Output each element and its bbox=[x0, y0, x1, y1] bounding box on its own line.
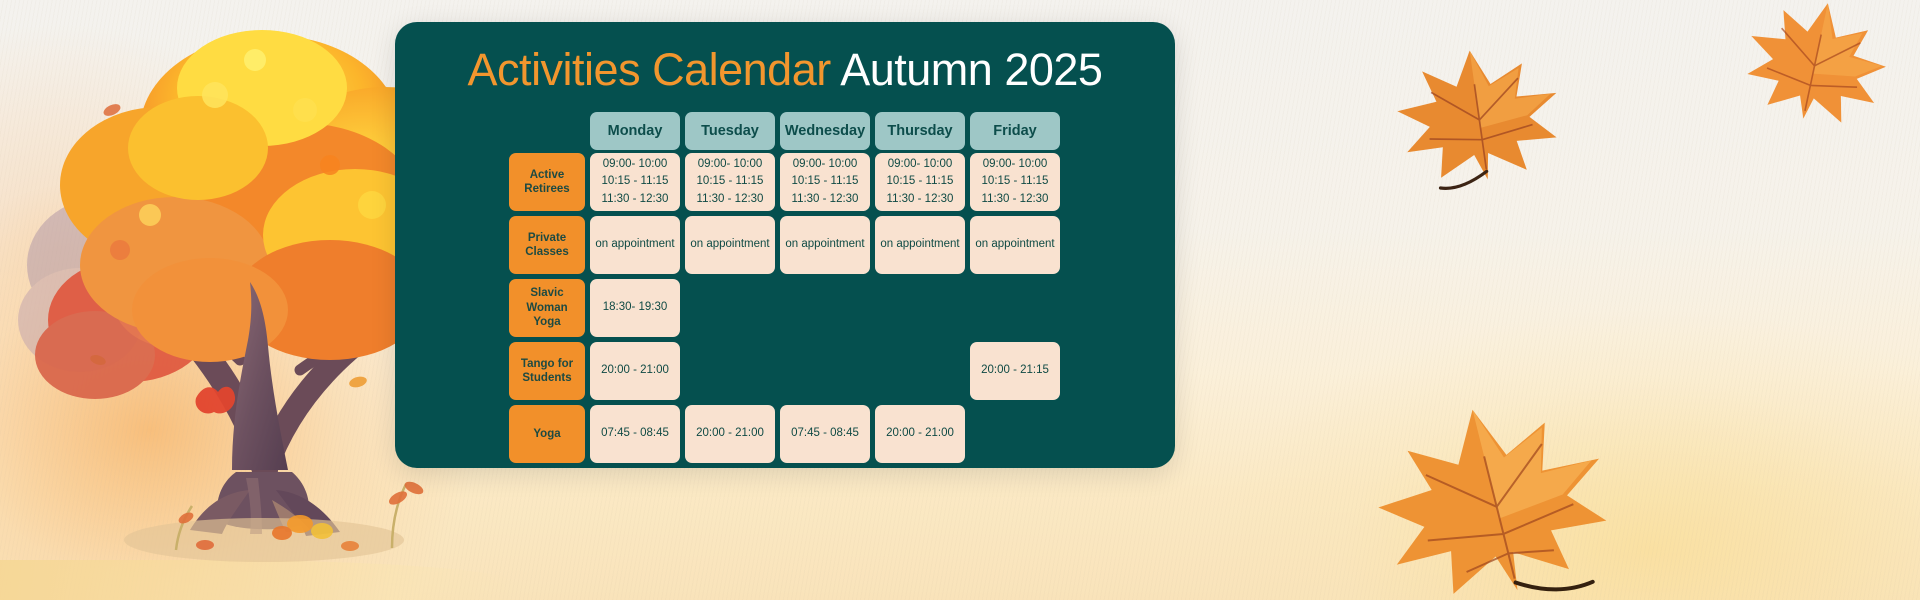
slot-tango-for-students-tuesday bbox=[685, 342, 775, 400]
slot-private-classes-monday[interactable]: on appointment bbox=[590, 216, 680, 274]
slot-slavic-woman-yoga-thursday bbox=[875, 279, 965, 337]
slot-tango-for-students-monday[interactable]: 20:00 - 21:00 bbox=[590, 342, 680, 400]
slot-active-retirees-tuesday[interactable]: 09:00- 10:00 10:15 - 11:15 11:30 - 12:30 bbox=[685, 153, 775, 211]
slot-active-retirees-wednesday[interactable]: 09:00- 10:00 10:15 - 11:15 11:30 - 12:30 bbox=[780, 153, 870, 211]
slot-tango-for-students-thursday bbox=[875, 342, 965, 400]
slot-yoga-monday[interactable]: 07:45 - 08:45 bbox=[590, 405, 680, 463]
day-header-monday[interactable]: Monday bbox=[590, 112, 680, 150]
maple-leaf-large-lower-icon bbox=[1370, 395, 1620, 600]
slot-slavic-woman-yoga-friday bbox=[970, 279, 1060, 337]
slot-private-classes-tuesday[interactable]: on appointment bbox=[685, 216, 775, 274]
activity-label-slavic-woman-yoga[interactable]: Slavic Woman Yoga bbox=[509, 279, 585, 337]
slot-private-classes-friday[interactable]: on appointment bbox=[970, 216, 1060, 274]
page-title: Activities Calendar Autumn 2025 bbox=[395, 22, 1175, 96]
day-header-wednesday[interactable]: Wednesday bbox=[780, 112, 870, 150]
slot-tango-for-students-wednesday bbox=[780, 342, 870, 400]
slot-slavic-woman-yoga-monday[interactable]: 18:30- 19:30 bbox=[590, 279, 680, 337]
activity-label-yoga[interactable]: Yoga bbox=[509, 405, 585, 463]
day-header-tuesday[interactable]: Tuesday bbox=[685, 112, 775, 150]
calendar-panel: Activities Calendar Autumn 2025 Monday T… bbox=[395, 22, 1175, 468]
day-header-thursday[interactable]: Thursday bbox=[875, 112, 965, 150]
slot-private-classes-wednesday[interactable]: on appointment bbox=[780, 216, 870, 274]
activity-label-tango-for-students[interactable]: Tango for Students bbox=[509, 342, 585, 400]
slot-yoga-tuesday[interactable]: 20:00 - 21:00 bbox=[685, 405, 775, 463]
calendar-corner-spacer bbox=[507, 112, 587, 150]
slot-yoga-thursday[interactable]: 20:00 - 21:00 bbox=[875, 405, 965, 463]
activity-label-private-classes[interactable]: Private Classes bbox=[509, 216, 585, 274]
page-title-accent: Activities Calendar bbox=[468, 44, 831, 95]
slot-slavic-woman-yoga-tuesday bbox=[685, 279, 775, 337]
maple-leaf-top-right-icon bbox=[1736, 0, 1896, 124]
day-header-friday[interactable]: Friday bbox=[970, 112, 1060, 150]
slot-yoga-friday bbox=[970, 405, 1060, 463]
slot-yoga-wednesday[interactable]: 07:45 - 08:45 bbox=[780, 405, 870, 463]
activities-calendar-table: Monday Tuesday Wednesday Thursday Friday… bbox=[507, 112, 1063, 465]
activity-label-active-retirees[interactable]: Active Retirees bbox=[509, 153, 585, 211]
slot-private-classes-thursday[interactable]: on appointment bbox=[875, 216, 965, 274]
maple-leaf-upper-icon bbox=[1388, 40, 1568, 190]
slot-active-retirees-friday[interactable]: 09:00- 10:00 10:15 - 11:15 11:30 - 12:30 bbox=[970, 153, 1060, 211]
slot-active-retirees-monday[interactable]: 09:00- 10:00 10:15 - 11:15 11:30 - 12:30 bbox=[590, 153, 680, 211]
slot-active-retirees-thursday[interactable]: 09:00- 10:00 10:15 - 11:15 11:30 - 12:30 bbox=[875, 153, 965, 211]
page-title-plain: Autumn 2025 bbox=[840, 44, 1102, 95]
slot-tango-for-students-friday[interactable]: 20:00 - 21:15 bbox=[970, 342, 1060, 400]
slot-slavic-woman-yoga-wednesday bbox=[780, 279, 870, 337]
